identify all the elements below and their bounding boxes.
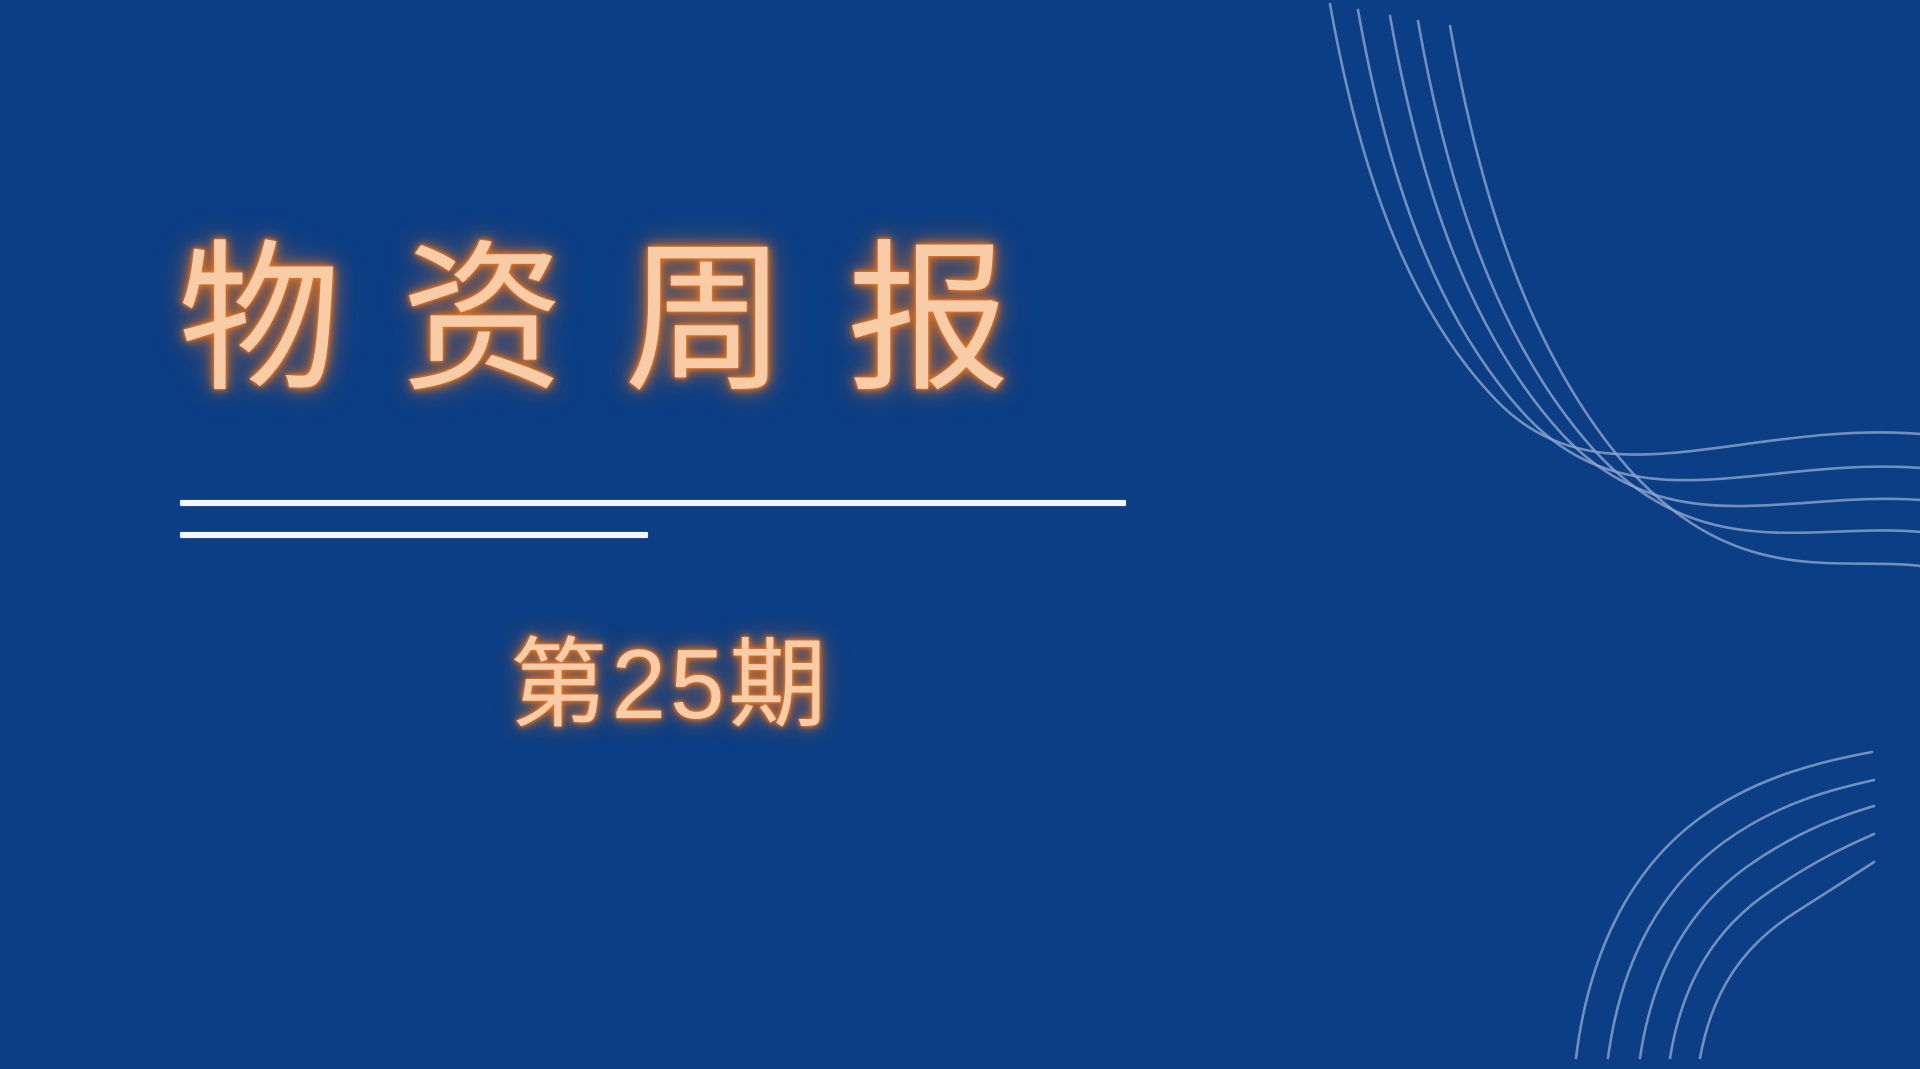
page-title: 物资周报	[178, 238, 1070, 401]
title-underline-long	[180, 500, 1126, 506]
title-underline-short	[180, 532, 648, 538]
cover-slide: 物资周报 第25期	[0, 0, 1920, 1069]
issue-subtitle: 第25期	[0, 628, 1340, 741]
